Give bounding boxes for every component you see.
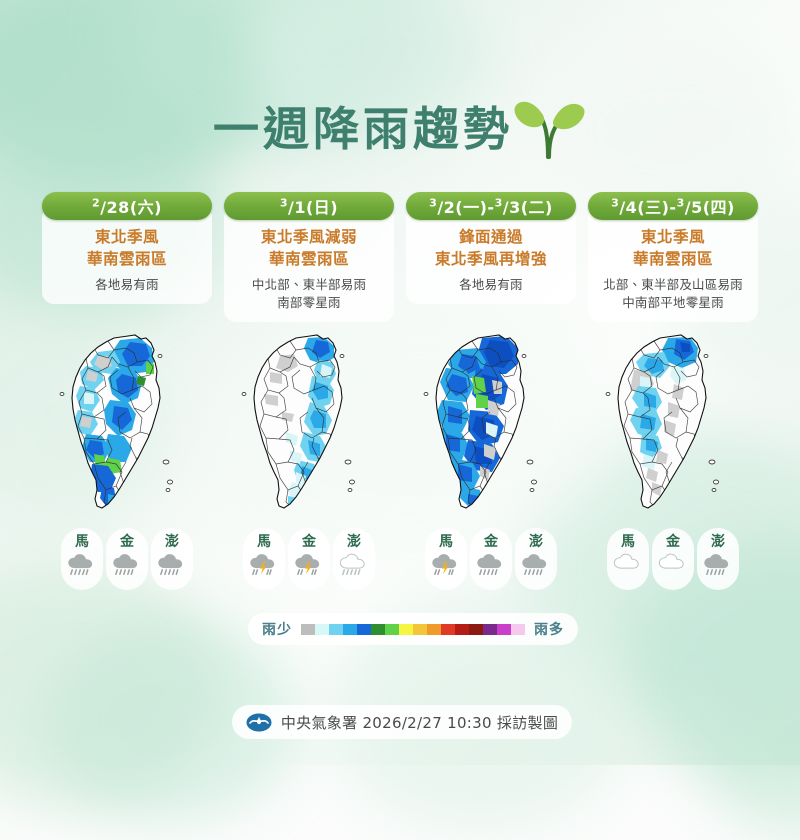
island-label: 澎 (347, 535, 361, 549)
island-chip-澎[interactable]: 澎 (515, 528, 557, 590)
page-title-row: 一週降雨趨勢 (0, 92, 800, 166)
island-label: 澎 (529, 535, 543, 549)
legend-swatch-2 (329, 624, 343, 635)
cloud-shape (158, 554, 182, 568)
legend-swatch-14 (497, 624, 511, 635)
raindrop-0 (343, 570, 344, 574)
raindrop-3 (452, 570, 453, 574)
island-chip-澎[interactable]: 澎 (151, 528, 193, 590)
island-label: 澎 (711, 535, 725, 549)
card-subline-1: 中北部、東半部易雨 南部零星雨 (252, 276, 366, 312)
card-body-0: 東北季風 華南雲雨區 各地易有雨 (42, 206, 212, 304)
cloud-shape (659, 554, 683, 568)
raindrop-3 (355, 570, 356, 574)
island-label: 金 (484, 535, 498, 549)
taiwan-rainfall-svg (224, 322, 394, 527)
date-month-2b: 3 (495, 197, 503, 210)
island-chip-澎[interactable]: 澎 (333, 528, 375, 590)
island-chip-金[interactable]: 金 (470, 528, 512, 590)
raindrop-4 (358, 570, 359, 574)
offshore-islet-1 (714, 480, 719, 484)
card-subline-2: 各地易有雨 (459, 276, 523, 294)
offshore-islet-2 (712, 489, 716, 492)
raindrop-0 (298, 570, 299, 574)
rain-blob-15 (270, 372, 282, 384)
forecast-card-1[interactable]: 3/1(日) 東北季風減弱 華南雲雨區 中北部、東半部易雨 南部零星雨 (224, 192, 394, 322)
taiwan-rainfall-svg (42, 322, 212, 527)
island-chip-馬[interactable]: 馬 (61, 528, 103, 590)
raindrop-1 (301, 570, 302, 574)
raindrop-1 (711, 570, 712, 574)
cloud-shape (704, 554, 728, 568)
card-subline-0: 各地易有雨 (95, 276, 159, 294)
legend-swatch-11 (455, 624, 469, 635)
raindrop-3 (719, 570, 720, 574)
thunderstorm-icon (431, 553, 461, 578)
offshore-islet-3 (60, 393, 64, 396)
raindrop-4 (722, 570, 723, 574)
rain-blob-9 (476, 394, 488, 408)
date-pill-1: 3/1(日) (224, 192, 394, 220)
legend-low-label: 雨少 (262, 619, 292, 639)
date-month-3b: 3 (677, 197, 685, 210)
card-body-2: 鋒面通過 東北季風再增強 各地易有雨 (406, 206, 576, 304)
legend-color-bar (301, 624, 525, 635)
offshore-islet-3 (606, 393, 610, 396)
legend-high-label: 雨多 (534, 619, 564, 639)
headline-line-2: 華南雲雨區 (633, 248, 713, 270)
subline-line-1: 各地易有雨 (95, 276, 159, 294)
rain-cloud-icon (67, 553, 97, 578)
offshore-islet-4 (340, 355, 344, 358)
legend-swatch-13 (483, 624, 497, 635)
date-month-1: 3 (280, 197, 288, 210)
raindrop-0 (525, 570, 526, 574)
date-rest-1: /1(日) (288, 198, 338, 217)
headline-line-1: 東北季風 (87, 226, 167, 248)
offshore-islet-1 (350, 480, 355, 484)
rain-blob-9 (84, 392, 94, 404)
offshore-islet-4 (704, 355, 708, 358)
offshore-islet-0 (527, 460, 533, 464)
legend-swatch-9 (427, 624, 441, 635)
rain-blob-6 (640, 376, 650, 388)
rain-blob-13 (80, 416, 92, 428)
island-chip-金[interactable]: 金 (106, 528, 148, 590)
rainfall-map-0[interactable] (42, 322, 212, 527)
raindrop-2 (715, 570, 716, 574)
raindrop-4 (540, 570, 541, 574)
raindrop-0 (480, 570, 481, 574)
thunderstorm-icon (294, 553, 324, 578)
raindrop-1 (256, 570, 257, 574)
island-group-0: 馬金澎 (42, 528, 212, 590)
offshore-islet-0 (709, 460, 715, 464)
island-group-3: 馬金澎 (588, 528, 758, 590)
rain-cloud-icon (157, 553, 187, 578)
offshore-islet-1 (532, 480, 537, 484)
forecast-card-2[interactable]: 3/2(一)-3/3(二) 鋒面通過 東北季風再增強 各地易有雨 (406, 192, 576, 322)
card-body-1: 東北季風減弱 華南雲雨區 中北部、東半部易雨 南部零星雨 (224, 206, 394, 322)
date-month-0: 2 (92, 197, 100, 210)
subline-line-1: 北部、東半部及山區易雨 (603, 276, 743, 294)
subline-line-1: 中北部、東半部易雨 (252, 276, 366, 294)
headline-line-2: 華南雲雨區 (87, 248, 167, 270)
island-group-1: 馬金澎 (224, 528, 394, 590)
offshore-islet-1 (168, 480, 173, 484)
subline-line-2: 中南部平地零星雨 (603, 294, 743, 312)
cloud-shape (477, 554, 501, 568)
island-label: 馬 (439, 535, 453, 549)
rainfall-map-1[interactable] (224, 322, 394, 527)
raindrop-0 (253, 570, 254, 574)
legend-swatch-0 (301, 624, 315, 635)
card-headline-1: 東北季風減弱 華南雲雨區 (261, 226, 357, 270)
footer-bar: 中央氣象署 2026/2/27 10:30 採訪製圖 (232, 705, 572, 739)
legend-swatch-5 (371, 624, 385, 635)
cloud-icon (658, 553, 688, 578)
rainfall-map-row (42, 322, 758, 527)
headline-line-1: 鋒面通過 (435, 226, 547, 248)
rain-cloud-icon (521, 553, 551, 578)
cloud-icon (613, 553, 643, 578)
forecast-card-row: 2/28(六) 東北季風 華南雲雨區 各地易有雨 3/1(日) 東北季風減弱 華… (42, 192, 758, 322)
raindrop-4 (131, 570, 132, 574)
island-label: 金 (302, 535, 316, 549)
raindrop-4 (495, 570, 496, 574)
offshore-islet-2 (166, 489, 170, 492)
rain-cloud-icon (112, 553, 142, 578)
raindrop-4 (86, 570, 87, 574)
cloud-shape (113, 554, 137, 568)
date-rest-2: /2(一)- (437, 198, 494, 217)
raindrop-1 (75, 570, 76, 574)
raindrop-2 (124, 570, 125, 574)
page-title: 一週降雨趨勢 (213, 106, 513, 152)
date-pill-3: 3/4(三)-3/5(四) (588, 192, 758, 220)
card-body-3: 東北季風 華南雲雨區 北部、東半部及山區易雨 中南部平地零星雨 (588, 206, 758, 322)
island-label: 金 (666, 535, 680, 549)
cloud-shape (68, 554, 92, 568)
card-headline-3: 東北季風 華南雲雨區 (633, 226, 713, 270)
island-forecast-row: 馬金澎 馬金澎 馬金澎 馬金澎 (42, 528, 758, 590)
card-headline-2: 鋒面通過 東北季風再增強 (435, 226, 547, 270)
legend-swatch-15 (511, 624, 525, 635)
rain-cloud-icon (703, 553, 733, 578)
footer-text: 中央氣象署 2026/2/27 10:30 採訪製圖 (281, 712, 558, 733)
raindrop-3 (128, 570, 129, 574)
offshore-islet-0 (345, 460, 351, 464)
raindrop-0 (707, 570, 708, 574)
date-rest-3b: /5(四) (685, 198, 735, 217)
taiwan-rainfall-svg (406, 322, 576, 527)
raindrop-1 (438, 570, 439, 574)
legend-swatch-1 (315, 624, 329, 635)
raindrop-0 (116, 570, 117, 574)
raindrop-3 (83, 570, 84, 574)
legend-swatch-10 (441, 624, 455, 635)
raindrop-2 (312, 570, 313, 574)
date-rest-3: /4(三)- (619, 198, 676, 217)
offshore-islet-0 (163, 460, 169, 464)
rain-cloud-icon (476, 553, 506, 578)
offshore-islet-2 (348, 489, 352, 492)
cloud-shape (614, 554, 638, 568)
raindrop-1 (529, 570, 530, 574)
raindrop-3 (315, 570, 316, 574)
island-chip-馬[interactable]: 馬 (425, 528, 467, 590)
island-chip-馬[interactable]: 馬 (607, 528, 649, 590)
island-label: 馬 (621, 535, 635, 549)
island-label: 馬 (257, 535, 271, 549)
island-chip-澎[interactable]: 澎 (697, 528, 739, 590)
forecast-card-0[interactable]: 2/28(六) 東北季風 華南雲雨區 各地易有雨 (42, 192, 212, 322)
island-label: 澎 (165, 535, 179, 549)
raindrop-0 (161, 570, 162, 574)
thunderstorm-icon (249, 553, 279, 578)
date-rest-2b: /3(二) (503, 198, 553, 217)
raindrop-1 (120, 570, 121, 574)
legend-swatch-7 (399, 624, 413, 635)
raindrop-2 (351, 570, 352, 574)
subline-line-2: 南部零星雨 (252, 294, 366, 312)
island-label: 金 (120, 535, 134, 549)
raindrop-1 (484, 570, 485, 574)
cloud-shape (340, 554, 364, 568)
raindrop-3 (173, 570, 174, 574)
cloud-shape (522, 554, 546, 568)
rainfall-legend: 雨少 雨多 (248, 613, 578, 645)
raindrop-2 (267, 570, 268, 574)
raindrop-0 (71, 570, 72, 574)
island-chip-金[interactable]: 金 (288, 528, 330, 590)
date-rest-0: /28(六) (100, 198, 162, 217)
legend-swatch-8 (413, 624, 427, 635)
raindrop-2 (449, 570, 450, 574)
offshore-islet-3 (424, 393, 428, 396)
offshore-islet-3 (242, 393, 246, 396)
raindrop-1 (347, 570, 348, 574)
raindrop-0 (435, 570, 436, 574)
date-pill-2: 3/2(一)-3/3(二) (406, 192, 576, 220)
taiwan-rainfall-svg (588, 322, 758, 527)
legend-swatch-3 (343, 624, 357, 635)
cwa-logo-icon (246, 713, 272, 732)
raindrop-3 (270, 570, 271, 574)
headline-line-2: 東北季風再增強 (435, 248, 547, 270)
island-group-2: 馬金澎 (406, 528, 576, 590)
raindrop-3 (492, 570, 493, 574)
headline-line-2: 華南雲雨區 (261, 248, 357, 270)
card-subline-3: 北部、東半部及山區易雨 中南部平地零星雨 (603, 276, 743, 312)
offshore-islet-4 (158, 355, 162, 358)
forecast-card-3[interactable]: 3/4(三)-3/5(四) 東北季風 華南雲雨區 北部、東半部及山區易雨 中南部… (588, 192, 758, 322)
legend-swatch-6 (385, 624, 399, 635)
legend-swatch-4 (357, 624, 371, 635)
raindrop-3 (537, 570, 538, 574)
raindrop-4 (176, 570, 177, 574)
subline-line-1: 各地易有雨 (459, 276, 523, 294)
island-chip-馬[interactable]: 馬 (243, 528, 285, 590)
raindrop-1 (165, 570, 166, 574)
raindrop-2 (488, 570, 489, 574)
legend-swatch-12 (469, 624, 483, 635)
sprout-icon (513, 93, 587, 159)
raindrop-2 (79, 570, 80, 574)
island-chip-金[interactable]: 金 (652, 528, 694, 590)
rainfall-map-3[interactable] (588, 322, 758, 527)
rainfall-map-2[interactable] (406, 322, 576, 527)
offshore-islet-2 (530, 489, 534, 492)
headline-line-1: 東北季風 (633, 226, 713, 248)
raindrop-2 (533, 570, 534, 574)
date-pill-0: 2/28(六) (42, 192, 212, 220)
light-rain-cloud-icon (339, 553, 369, 578)
raindrop-2 (169, 570, 170, 574)
offshore-islet-4 (522, 355, 526, 358)
island-label: 馬 (75, 535, 89, 549)
card-headline-0: 東北季風 華南雲雨區 (87, 226, 167, 270)
headline-line-1: 東北季風減弱 (261, 226, 357, 248)
